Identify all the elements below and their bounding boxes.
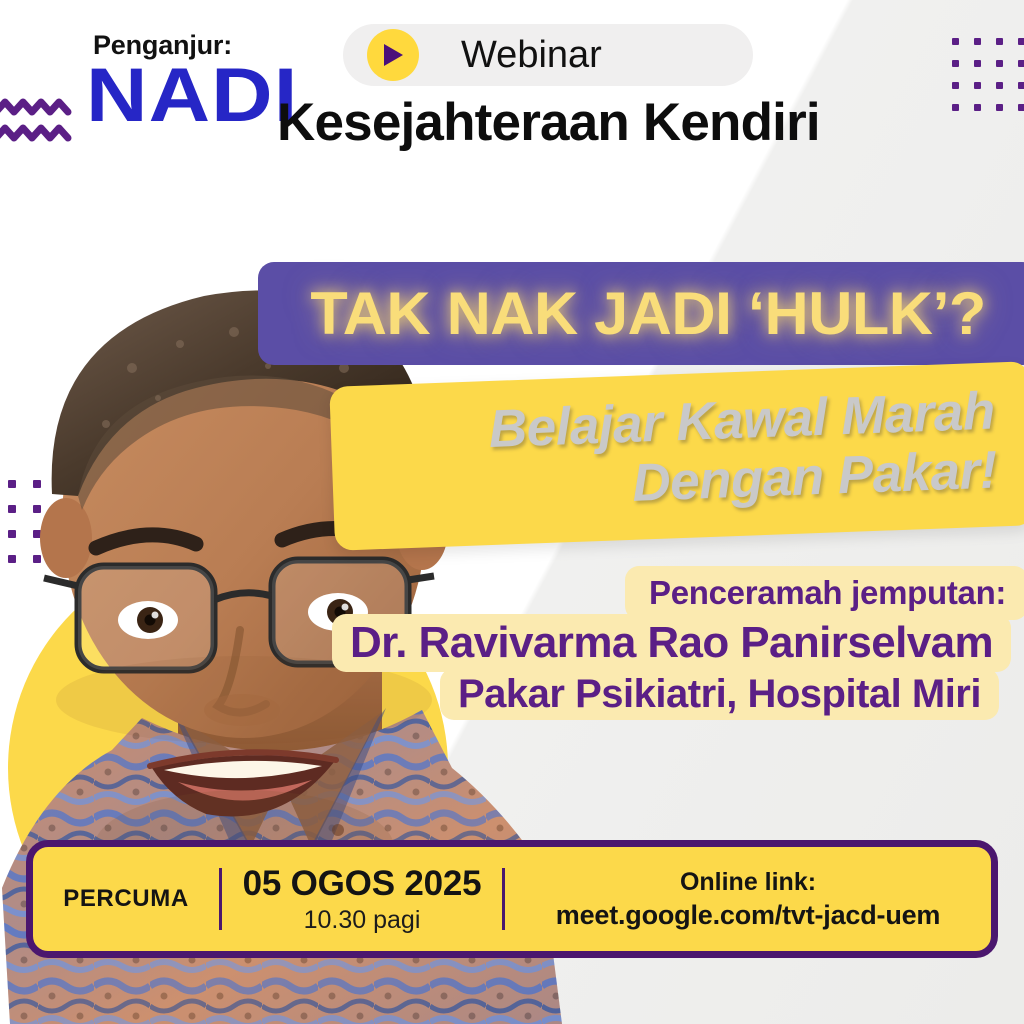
speaker-role: Pakar Psikiatri, Hospital Miri — [458, 672, 981, 717]
online-link-group: Online link: meet.google.com/tvt-jacd-ue… — [505, 868, 991, 931]
speaker-name-box: Dr. Ravivarma Rao Panirselvam — [332, 614, 1011, 672]
series-title: Kesejahteraan Kendiri — [277, 92, 820, 153]
main-title-banner: TAK NAK JADI ‘HULK’? — [258, 262, 1024, 365]
online-link-url[interactable]: meet.google.com/tvt-jacd-uem — [505, 900, 991, 931]
event-date: 05 OGOS 2025 — [222, 864, 502, 904]
play-icon — [367, 29, 419, 81]
date-time-group: 05 OGOS 2025 10.30 pagi — [222, 864, 502, 935]
webinar-badge-label: Webinar — [461, 34, 602, 77]
event-info-bar: PERCUMA 05 OGOS 2025 10.30 pagi Online l… — [26, 840, 998, 958]
price-label: PERCUMA — [33, 885, 219, 913]
webinar-poster: Penganjur: NADI Webinar Kesejahteraan Ke… — [0, 0, 1024, 1024]
speaker-name: Dr. Ravivarma Rao Panirselvam — [350, 618, 993, 668]
main-title-text: TAK NAK JADI ‘HULK’? — [310, 279, 985, 348]
subtitle-banner: Belajar Kawal Marah Dengan Pakar! — [329, 361, 1024, 551]
nadi-logo: NADI — [86, 60, 299, 132]
speaker-role-box: Pakar Psikiatri, Hospital Miri — [440, 668, 999, 720]
event-time: 10.30 pagi — [222, 906, 502, 935]
subtitle-line-2: Dengan Pakar! — [631, 440, 998, 513]
webinar-badge: Webinar — [343, 24, 753, 86]
speaker-label-box: Penceramah jemputan: — [625, 566, 1024, 620]
poster-header: Penganjur: NADI Webinar Kesejahteraan Ke… — [0, 0, 1024, 168]
speaker-label: Penceramah jemputan: — [649, 574, 1006, 612]
online-link-label: Online link: — [505, 868, 991, 897]
